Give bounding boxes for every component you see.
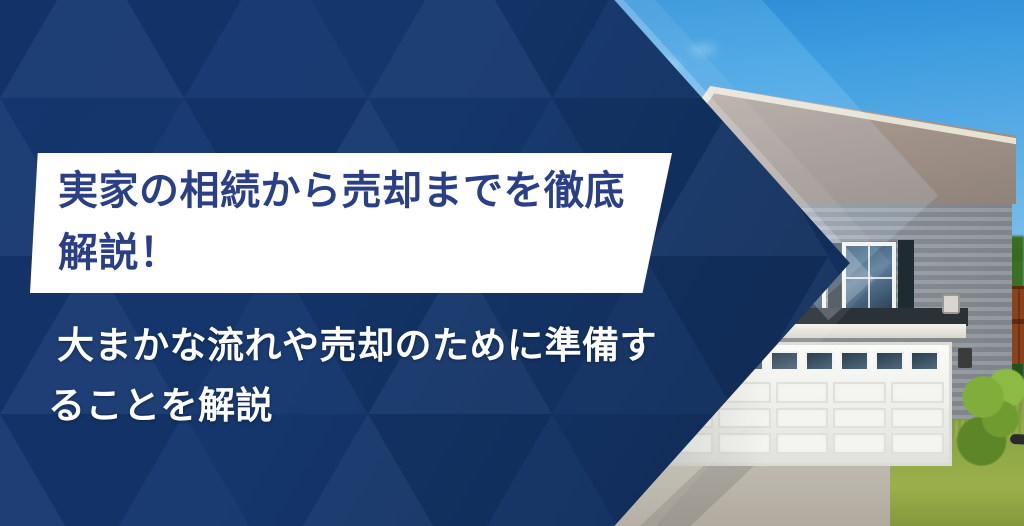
page-subtitle: 大まかな流れや売却のために準備することを解説 — [48, 316, 748, 436]
subtitle-line-1: 大まかな流れや売却のために準備す — [48, 316, 748, 376]
subtitle-line-2: ることを解説 — [48, 376, 748, 436]
shrub — [952, 364, 1024, 474]
title-line-1: 実家の相続から売却までを徹底 — [58, 169, 625, 213]
utility-meter — [942, 294, 960, 314]
page-title: 実家の相続から売却までを徹底 解説！ — [58, 160, 678, 284]
banner-hero: 実家の相続から売却までを徹底 解説！ 大まかな流れや売却のために準備することを解… — [0, 0, 1024, 526]
window-shutter — [898, 240, 914, 312]
title-line-2: 解説！ — [58, 231, 180, 275]
